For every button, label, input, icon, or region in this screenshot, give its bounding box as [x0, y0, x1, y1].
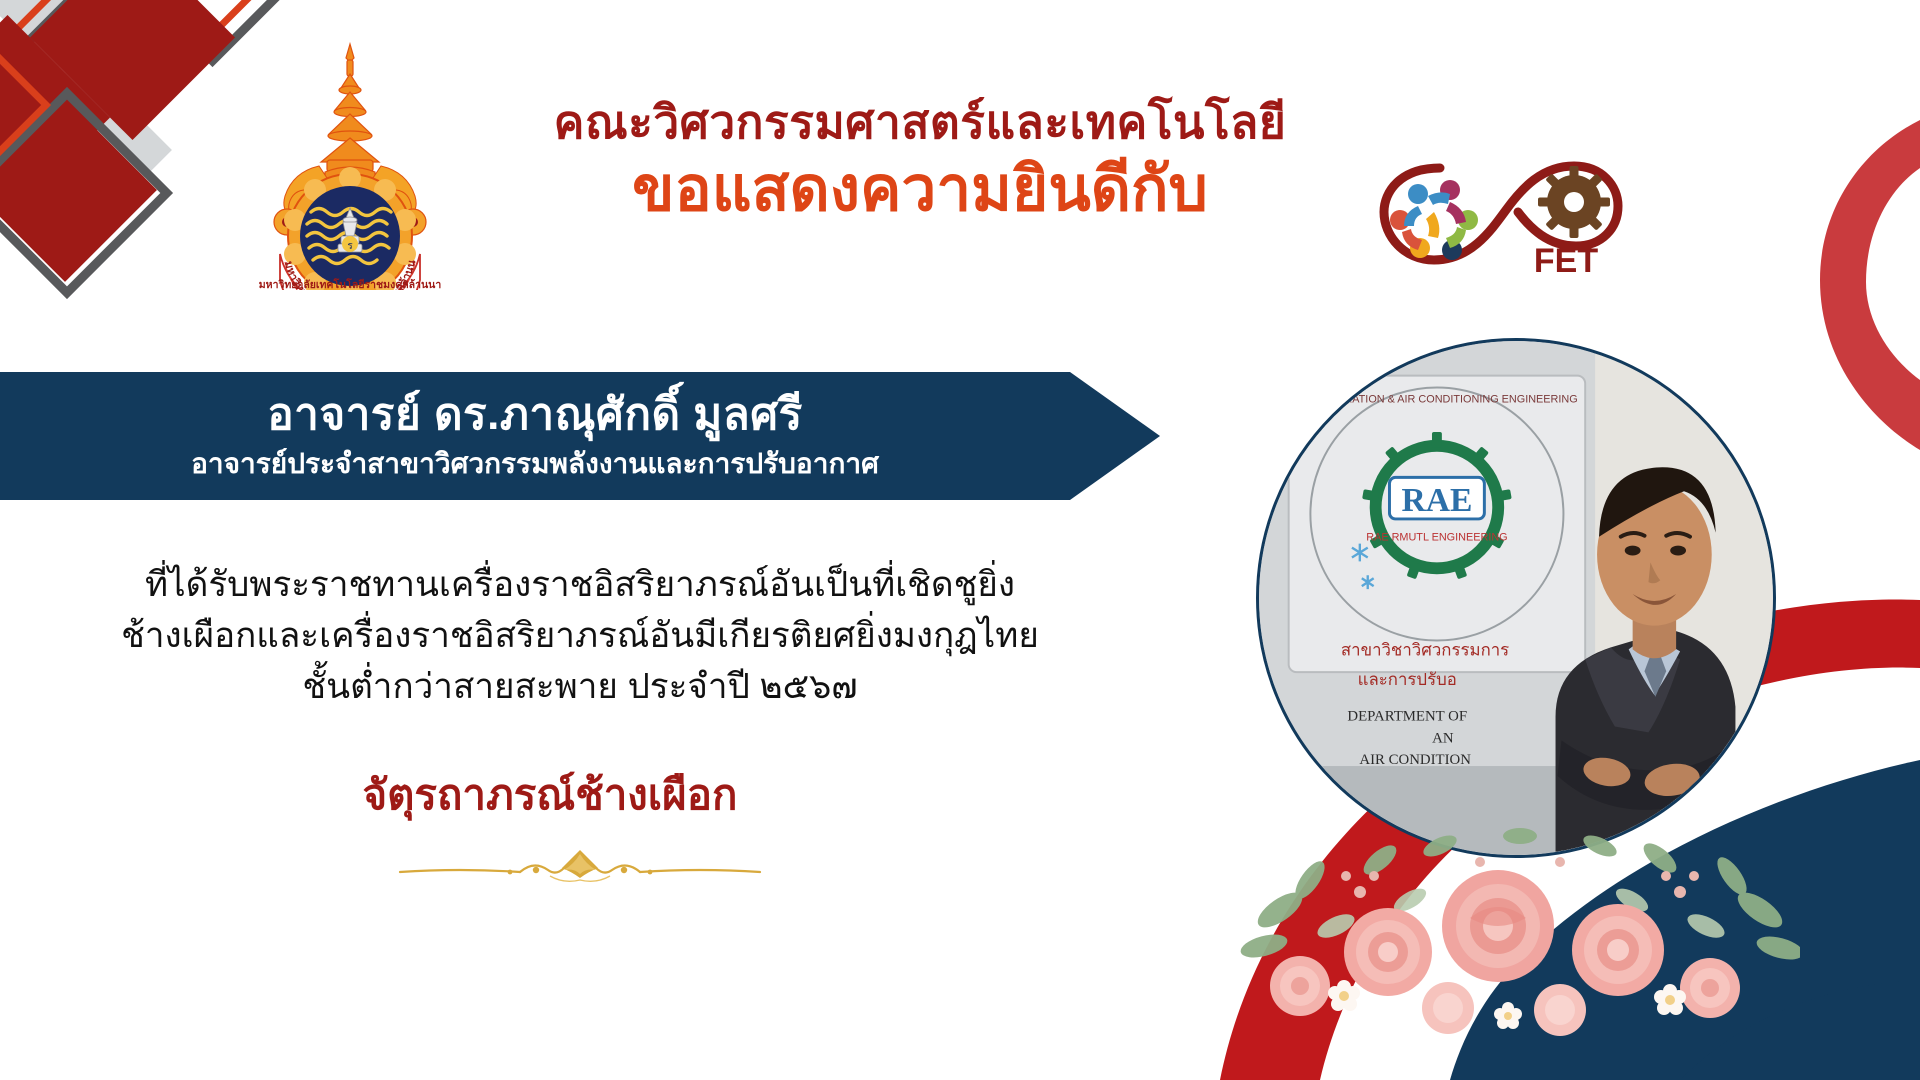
svg-text:RAE: RAE [1401, 482, 1472, 519]
citation-line-3: ชั้นต่ำกว่าสายสะพาย ประจำปี ๒๕๖๗ [0, 662, 1160, 713]
svg-text:สาขาวิชาวิศวกรรมการ: สาขาวิชาวิศวกรรมการ [1341, 640, 1509, 659]
citation-line-1: ที่ได้รับพระราชทานเครื่องราชอิสริยาภรณ์อ… [0, 560, 1160, 611]
honoree-name: อาจารย์ ดร.ภาณุศักดิ์ มูลศรี [267, 391, 803, 439]
banner-canvas: ร มหาวิทยาลัยเทคโนโลยีราชมงคลล้านนา มหาว… [0, 0, 1920, 1080]
gold-flourish-divider [390, 840, 770, 890]
floral-decoration [1240, 800, 1800, 1040]
citation-line-2: ช้างเผือกและเครื่องราชอิสริยาภรณ์อันมีเก… [0, 611, 1160, 662]
svg-text:DEPARTMENT OF: DEPARTMENT OF [1347, 709, 1467, 725]
svg-text:และการปรับอ: และการปรับอ [1358, 670, 1457, 689]
award-title: จัตุรถาภรณ์ช้างเผือก [0, 762, 1100, 828]
rmutl-emblem-icon: ร มหาวิทยาลัยเทคโนโลยีราชมงคลล้านนา มหาว… [255, 40, 445, 290]
svg-text:REFRIGERATION & AIR CONDITIONI: REFRIGERATION & AIR CONDITIONING ENGINEE… [1296, 393, 1578, 405]
svg-text:ร: ร [347, 241, 353, 252]
svg-text:RAE RMUTL ENGINEERING: RAE RMUTL ENGINEERING [1366, 532, 1507, 544]
emblem-caption: มหาวิทยาลัยเทคโนโลยีราชมงคลล้านนา [259, 278, 442, 290]
honoree-portrait: REFRIGERATION & AIR CONDITIONING ENGINEE… [1256, 338, 1776, 858]
svg-text:AN: AN [1432, 730, 1454, 746]
honoree-name-banner: อาจารย์ ดร.ภาณุศักดิ์ มูลศรี อาจารย์ประจ… [0, 372, 1160, 500]
honoree-position: อาจารย์ประจำสาขาวิศวกรรมพลังงานและการปรั… [191, 447, 879, 481]
citation-block: ที่ได้รับพระราชทานเครื่องราชอิสริยาภรณ์อ… [0, 560, 1160, 712]
svg-text:AIR CONDITION: AIR CONDITION [1359, 752, 1471, 768]
